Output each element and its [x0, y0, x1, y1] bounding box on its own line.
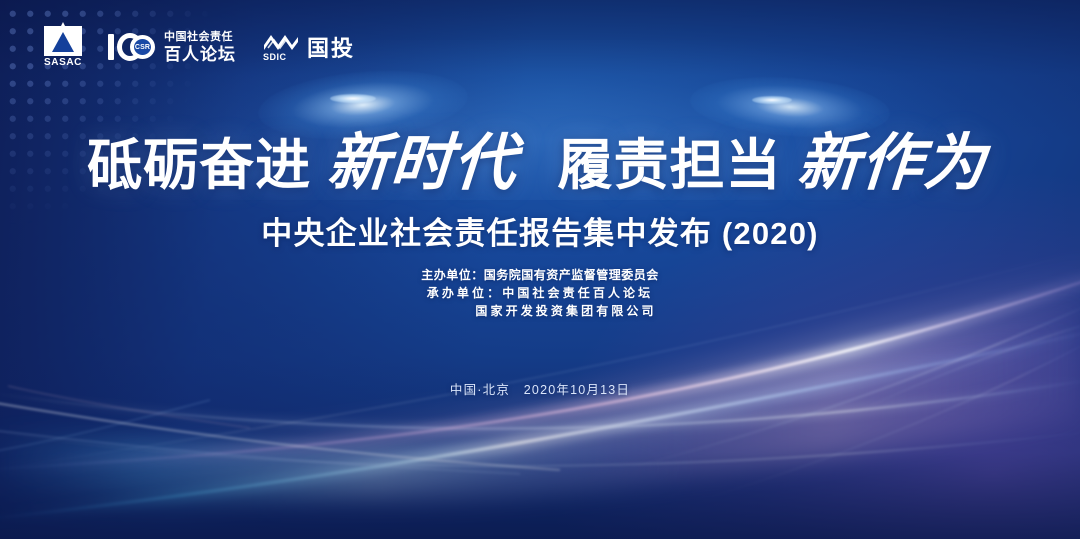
headline-part3: 履责担当	[557, 120, 781, 200]
csr-100-numeral-icon: CSR	[108, 30, 156, 64]
csr-forum-line2: 百人论坛	[164, 46, 236, 63]
logo-bar: SASAC CSR 中国社会责任 百人论坛 SDIC	[44, 26, 355, 68]
event-poster: SASAC CSR 中国社会责任 百人论坛 SDIC	[0, 0, 1080, 539]
headline-part4: 新作为	[795, 112, 990, 202]
sasac-triangle-icon	[44, 26, 82, 56]
headline-part2: 新时代	[324, 112, 519, 202]
sdic-cn-name: 国投	[307, 31, 355, 63]
sasac-wordmark: SASAC	[44, 58, 82, 68]
organizer-block: 主办单位：国务院国有资产监督管理委员会 承办单位：中国社会责任百人论坛 国家开发…	[0, 266, 1080, 320]
logo-csr-forum: CSR 中国社会责任 百人论坛	[108, 30, 236, 64]
sdic-wordmark: SDIC	[263, 52, 287, 62]
organizer-coordinator-line: 承办单位：中国社会责任百人论坛	[0, 284, 1080, 302]
organizer-coordinator-line-2: 国家开发投资集团有限公司	[0, 302, 1080, 320]
logo-sdic: SDIC 国投	[262, 31, 355, 63]
page-subtitle: 中央企业社会责任报告集中发布 (2020)	[0, 208, 1080, 253]
headline: 砥砺奋进 新时代 履责担当 新作为	[0, 112, 1080, 202]
sdic-waves-icon: SDIC	[262, 32, 300, 62]
event-date-location: 中国·北京 2020年10月13日	[0, 379, 1080, 398]
csr-forum-line1: 中国社会责任	[164, 32, 236, 43]
headline-part1: 砥砺奋进	[87, 120, 311, 200]
csr-inner-label: CSR	[135, 44, 150, 51]
csr-forum-wordmark: 中国社会责任 百人论坛	[164, 32, 236, 63]
logo-sasac: SASAC	[44, 26, 82, 68]
organizer-host-line: 主办单位：国务院国有资产监督管理委员会	[0, 266, 1080, 284]
